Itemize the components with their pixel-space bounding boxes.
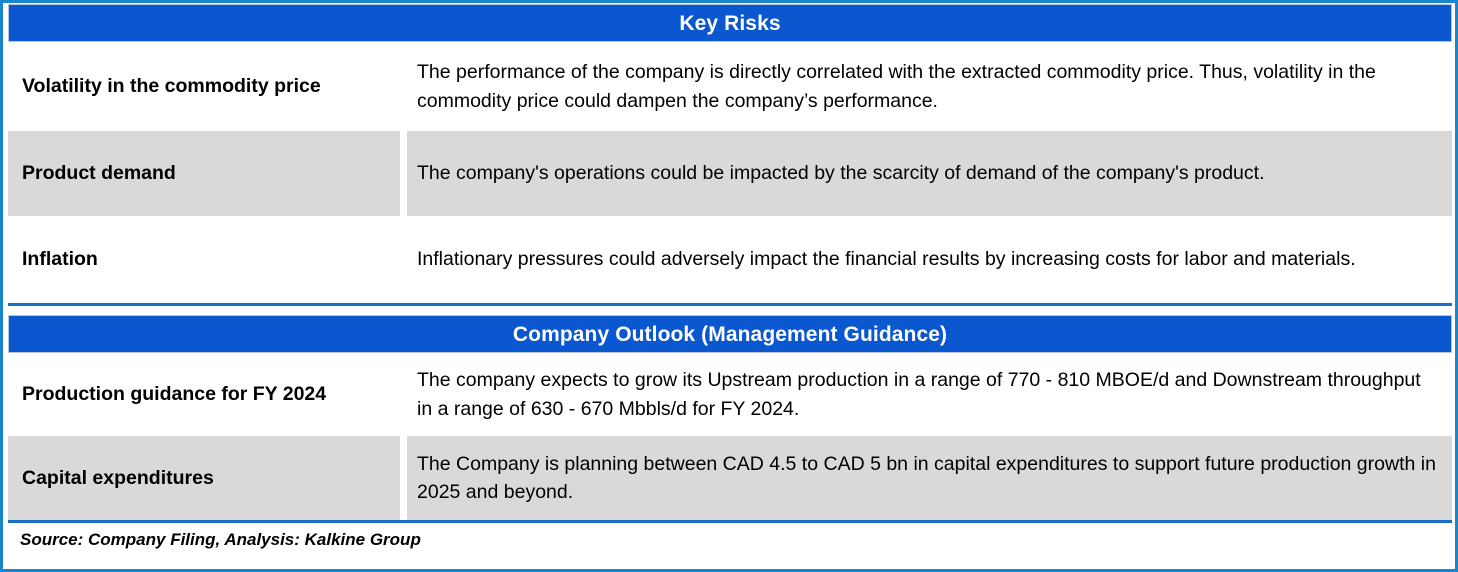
row-label: Capital expenditures: [8, 436, 400, 520]
section-header-key-risks: Key Risks: [8, 4, 1452, 42]
row-description: Inflationary pressures could adversely i…: [407, 216, 1452, 303]
table-row: Volatility in the commodity price The pe…: [8, 42, 1452, 131]
row-label: Product demand: [8, 131, 400, 216]
table-row: Capital expenditures The Company is plan…: [8, 436, 1452, 520]
row-description: The Company is planning between CAD 4.5 …: [407, 436, 1452, 520]
column-gap: [400, 216, 407, 303]
row-description: The company's operations could be impact…: [407, 131, 1452, 216]
column-gap: [400, 353, 407, 436]
column-gap: [400, 42, 407, 131]
column-gap: [400, 436, 407, 520]
row-description: The company expects to grow its Upstream…: [407, 353, 1452, 436]
table-row: Product demand The company's operations …: [8, 131, 1452, 216]
row-label: Volatility in the commodity price: [8, 42, 400, 131]
source-note-text: Source: Company Filing, Analysis: Kalkin…: [20, 530, 421, 550]
table-frame: Key Risks Volatility in the commodity pr…: [0, 0, 1458, 572]
table-row: Inflation Inflationary pressures could a…: [8, 216, 1452, 303]
source-note: Source: Company Filing, Analysis: Kalkin…: [8, 523, 1452, 557]
row-description: The performance of the company is direct…: [407, 42, 1452, 131]
column-gap: [400, 131, 407, 216]
row-label: Production guidance for FY 2024: [8, 353, 400, 436]
section-divider: [8, 303, 1452, 306]
section-header-company-outlook: Company Outlook (Management Guidance): [8, 315, 1452, 353]
table-row: Production guidance for FY 2024 The comp…: [8, 353, 1452, 436]
risks-outlook-table: Key Risks Volatility in the commodity pr…: [4, 4, 1452, 557]
row-label: Inflation: [8, 216, 400, 303]
